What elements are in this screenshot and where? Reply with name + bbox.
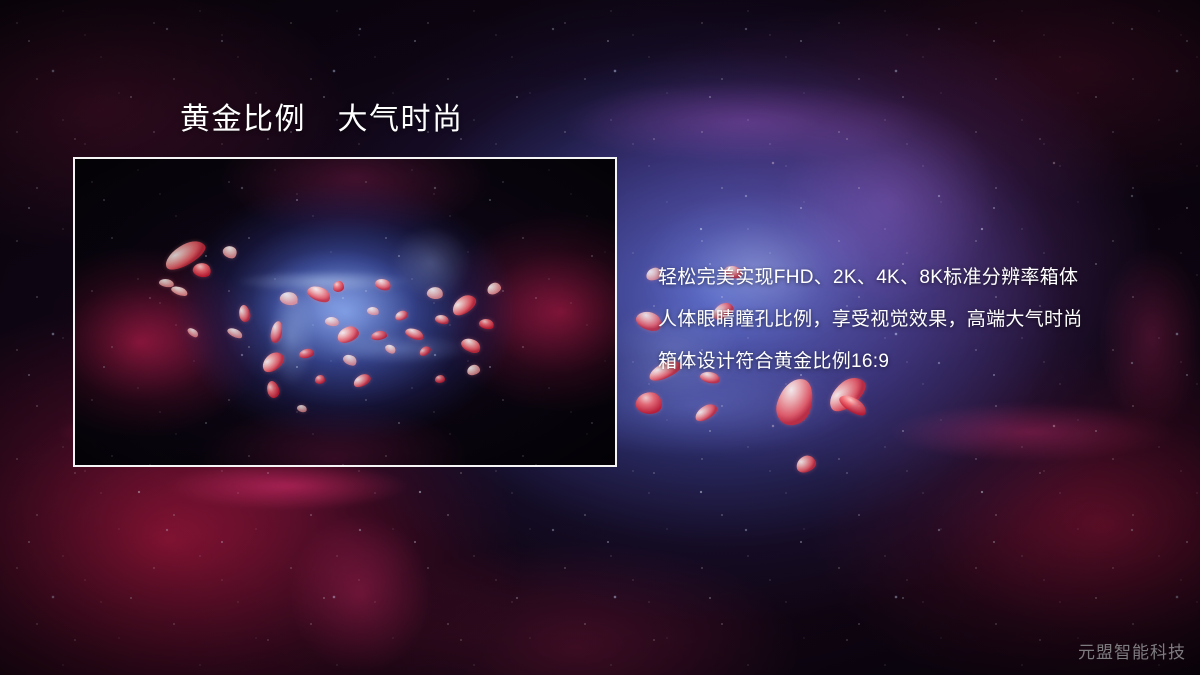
- feature-description-list: 轻松完美实现FHD、2K、4K、8K标准分辨率箱体 人体眼睛瞳孔比例，享受视觉效…: [658, 257, 1168, 383]
- description-line: 轻松完美实现FHD、2K、4K、8K标准分辨率箱体: [658, 257, 1168, 299]
- preview-vignette: [75, 159, 615, 465]
- slide-canvas: 黄金比例 大气时尚 轻松完美实现FHD、2K、4K、8K标准分辨率箱体 人体眼睛…: [0, 0, 1200, 675]
- page-title: 黄金比例 大气时尚: [180, 100, 464, 141]
- framed-preview-image: [73, 157, 617, 467]
- petal: [634, 390, 664, 417]
- petal: [692, 401, 719, 424]
- petal: [794, 453, 818, 474]
- description-line: 人体眼睛瞳孔比例，享受视觉效果，高端大气时尚: [658, 299, 1168, 341]
- description-line: 箱体设计符合黄金比例16:9: [658, 341, 1168, 383]
- petal: [837, 391, 870, 419]
- watermark: 元盟智能科技: [1078, 638, 1186, 663]
